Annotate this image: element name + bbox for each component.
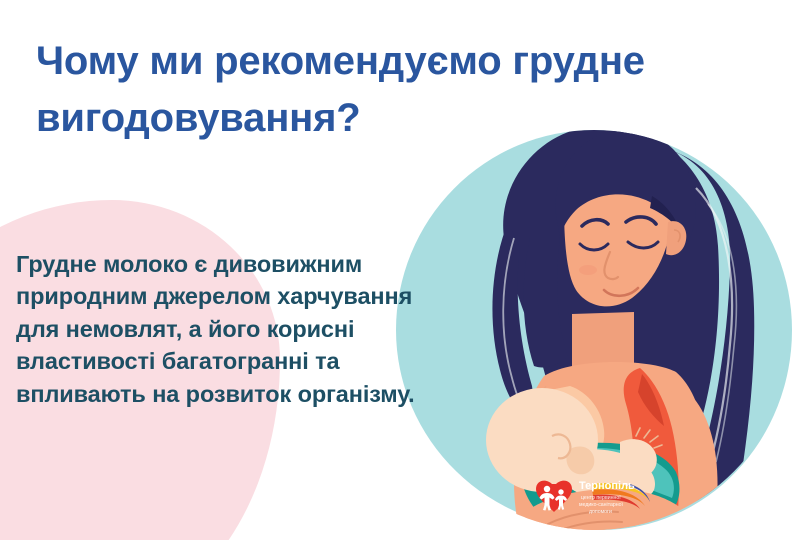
page-title: Чому ми рекомендуємо грудне вигодовуванн…	[36, 33, 788, 147]
logo-subtitle-line-1: центр первинної	[581, 495, 621, 501]
poster-canvas: Чому ми рекомендуємо грудне вигодовуванн…	[0, 0, 811, 540]
ternopil-logo: Тернопіль центр первинної медико-санітар…	[534, 474, 656, 522]
body-paragraph: Грудне молоко є дивовижним природним дже…	[16, 248, 416, 410]
logo-subtitle-line-2: медико-санітарної	[579, 502, 624, 508]
logo-name: Тернопіль	[579, 480, 635, 492]
logo-subtitle-line-3: допомоги	[589, 509, 612, 515]
